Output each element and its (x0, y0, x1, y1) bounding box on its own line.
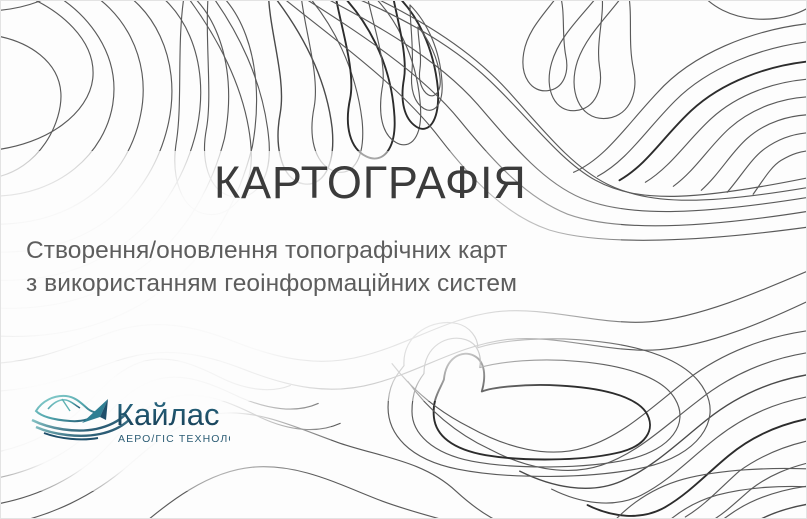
logo-wordmark: Кайлас (116, 397, 219, 432)
subtitle-line-1: Створення/оновлення топографічних карт (26, 235, 586, 268)
page-title: КАРТОГРАФІЯ (214, 160, 527, 205)
presentation-slide: КАРТОГРАФІЯ Створення/оновлення топограф… (0, 0, 807, 519)
company-logo: Кайлас АЕРО/ГІС ТЕХНОЛОГІЇ (30, 387, 230, 453)
subtitle-line-2: з використанням геоінформаційних систем (26, 268, 586, 301)
page-subtitle: Створення/оновлення топографічних карт з… (26, 235, 586, 300)
logo-tagline: АЕРО/ГІС ТЕХНОЛОГІЇ (118, 433, 230, 445)
